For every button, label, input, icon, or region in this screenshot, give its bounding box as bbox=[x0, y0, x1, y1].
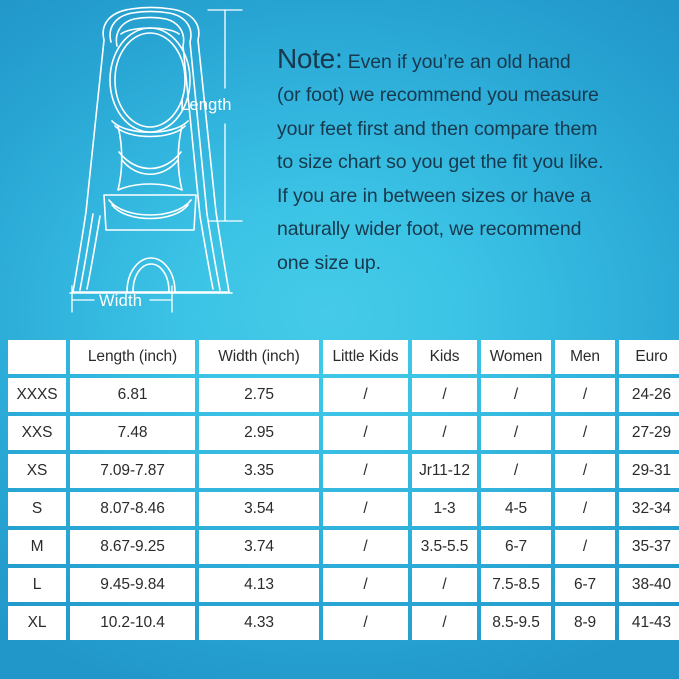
note-line-5: If you are in between sizes or have a bbox=[277, 180, 667, 214]
table-cell: 8.5-9.5 bbox=[481, 606, 551, 640]
table-cell: / bbox=[323, 416, 408, 450]
note-text-block: Note: Even if you’re an old hand (or foo… bbox=[277, 42, 667, 280]
table-cell: / bbox=[412, 606, 477, 640]
column-header-euro: Euro bbox=[619, 340, 679, 374]
table-cell: / bbox=[323, 492, 408, 526]
table-cell: 6-7 bbox=[555, 568, 615, 602]
table-row: XXS7.482.95////27-29 bbox=[8, 416, 679, 450]
note-line-7: one size up. bbox=[277, 247, 667, 281]
table-row: XL10.2-10.44.33//8.5-9.58-941-43 bbox=[8, 606, 679, 640]
table-cell: 10.2-10.4 bbox=[70, 606, 195, 640]
column-header-women: Women bbox=[481, 340, 551, 374]
table-cell: / bbox=[412, 568, 477, 602]
table-cell: 27-29 bbox=[619, 416, 679, 450]
upper-illustration-area: Length Width Note: Even if you’re an old… bbox=[0, 0, 679, 336]
table-cell: 4.33 bbox=[199, 606, 319, 640]
table-header-row: Length (inch)Width (inch)Little KidsKids… bbox=[8, 340, 679, 374]
table-cell: / bbox=[555, 492, 615, 526]
table-cell: / bbox=[555, 530, 615, 564]
table-cell: / bbox=[323, 568, 408, 602]
table-cell: 2.75 bbox=[199, 378, 319, 412]
table-cell: / bbox=[555, 416, 615, 450]
table-row: L9.45-9.844.13//7.5-8.56-738-40 bbox=[8, 568, 679, 602]
note-line-1-text: Even if you’re an old hand bbox=[342, 51, 570, 73]
table-cell: 3.74 bbox=[199, 530, 319, 564]
table-cell: / bbox=[323, 454, 408, 488]
table-cell: 3.35 bbox=[199, 454, 319, 488]
column-header-men: Men bbox=[555, 340, 615, 374]
note-line-6: naturally wider foot, we recommend bbox=[277, 213, 667, 247]
table-cell: / bbox=[412, 416, 477, 450]
table-cell: / bbox=[412, 378, 477, 412]
size-label-cell: XXXS bbox=[8, 378, 66, 412]
column-header-width-inch: Width (inch) bbox=[199, 340, 319, 374]
note-line-3: your feet first and then compare them bbox=[277, 113, 667, 147]
length-dimension-label: Length bbox=[180, 96, 232, 115]
note-line-2: (or foot) we recommend you measure bbox=[277, 79, 667, 113]
note-line-1: Note: Even if you’re an old hand bbox=[277, 42, 667, 79]
table-cell: 8.67-9.25 bbox=[70, 530, 195, 564]
table-row: XXXS6.812.75////24-26 bbox=[8, 378, 679, 412]
table-cell: 24-26 bbox=[619, 378, 679, 412]
table-row: S8.07-8.463.54/1-34-5/32-34 bbox=[8, 492, 679, 526]
table-cell: / bbox=[555, 378, 615, 412]
table-cell: 1-3 bbox=[412, 492, 477, 526]
column-header-kids: Kids bbox=[412, 340, 477, 374]
table-cell: / bbox=[323, 530, 408, 564]
size-chart-page: Length Width Note: Even if you’re an old… bbox=[0, 0, 679, 679]
table-cell: / bbox=[481, 378, 551, 412]
size-label-cell: S bbox=[8, 492, 66, 526]
table-cell: / bbox=[481, 454, 551, 488]
table-cell: 9.45-9.84 bbox=[70, 568, 195, 602]
size-label-cell: XS bbox=[8, 454, 66, 488]
table-cell: / bbox=[323, 378, 408, 412]
table-cell: 4-5 bbox=[481, 492, 551, 526]
table-cell: 35-37 bbox=[619, 530, 679, 564]
table-cell: 8-9 bbox=[555, 606, 615, 640]
table-cell: 7.5-8.5 bbox=[481, 568, 551, 602]
table-cell: 41-43 bbox=[619, 606, 679, 640]
table-cell: 29-31 bbox=[619, 454, 679, 488]
column-header-length-inch: Length (inch) bbox=[70, 340, 195, 374]
table-row: XS7.09-7.873.35/Jr11-12//29-31 bbox=[8, 454, 679, 488]
swim-fin-diagram bbox=[26, 2, 276, 324]
column-header-little-kids: Little Kids bbox=[323, 340, 408, 374]
size-label-cell: L bbox=[8, 568, 66, 602]
table-cell: 3.54 bbox=[199, 492, 319, 526]
table-cell: 8.07-8.46 bbox=[70, 492, 195, 526]
table-cell: 4.13 bbox=[199, 568, 319, 602]
table-cell: 7.48 bbox=[70, 416, 195, 450]
table-cell: 6.81 bbox=[70, 378, 195, 412]
table-cell: 32-34 bbox=[619, 492, 679, 526]
column-header-size bbox=[8, 340, 66, 374]
size-label-cell: XL bbox=[8, 606, 66, 640]
size-chart-table: Length (inch)Width (inch)Little KidsKids… bbox=[4, 336, 679, 644]
table-cell: 2.95 bbox=[199, 416, 319, 450]
size-chart-table-wrapper: Length (inch)Width (inch)Little KidsKids… bbox=[4, 336, 675, 644]
size-label-cell: XXS bbox=[8, 416, 66, 450]
table-cell: Jr11-12 bbox=[412, 454, 477, 488]
table-cell: 7.09-7.87 bbox=[70, 454, 195, 488]
size-label-cell: M bbox=[8, 530, 66, 564]
note-heading: Note: bbox=[277, 43, 342, 74]
note-line-4: to size chart so you get the fit you lik… bbox=[277, 146, 667, 180]
table-cell: / bbox=[323, 606, 408, 640]
table-row: M8.67-9.253.74/3.5-5.56-7/35-37 bbox=[8, 530, 679, 564]
table-cell: 6-7 bbox=[481, 530, 551, 564]
table-cell: 3.5-5.5 bbox=[412, 530, 477, 564]
width-dimension-label: Width bbox=[99, 292, 142, 311]
table-cell: / bbox=[555, 454, 615, 488]
table-cell: 38-40 bbox=[619, 568, 679, 602]
table-cell: / bbox=[481, 416, 551, 450]
